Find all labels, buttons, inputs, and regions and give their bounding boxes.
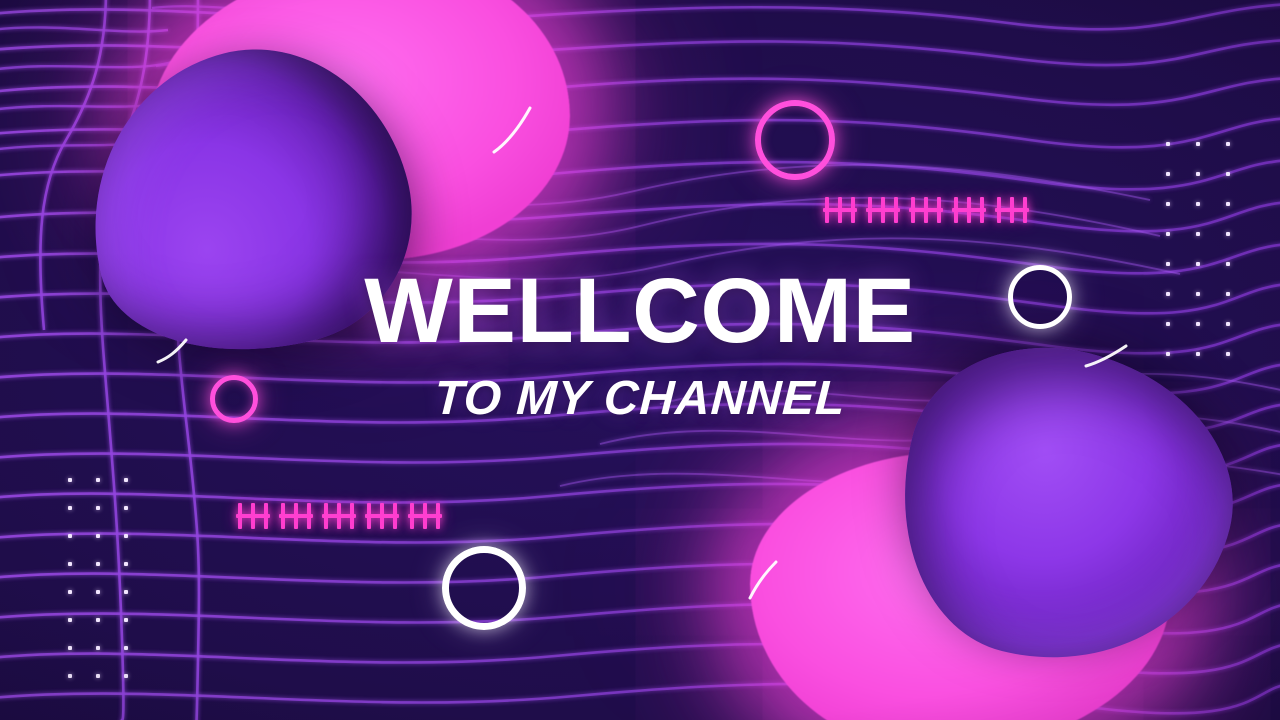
poster-canvas: WELLCOME TO MY CHANNEL — [0, 0, 1280, 720]
tally-mark — [238, 503, 268, 529]
page-subtitle: TO MY CHANNEL — [0, 371, 1280, 426]
page-title: WELLCOME — [0, 268, 1280, 355]
tally-mark — [410, 503, 440, 529]
title-block: WELLCOME TO MY CHANNEL — [0, 268, 1280, 426]
tally-mark — [324, 503, 354, 529]
tally-mark — [367, 503, 397, 529]
tally-mark — [281, 503, 311, 529]
tally-marks-right — [825, 197, 1027, 223]
tally-mark — [911, 197, 941, 223]
tally-mark — [997, 197, 1027, 223]
dot-grid-left — [68, 478, 128, 678]
tally-mark — [825, 197, 855, 223]
tally-mark — [954, 197, 984, 223]
tally-marks-left — [238, 503, 440, 529]
tally-mark — [868, 197, 898, 223]
ring-pink-top — [755, 100, 835, 180]
ring-white-bottom — [442, 546, 526, 630]
